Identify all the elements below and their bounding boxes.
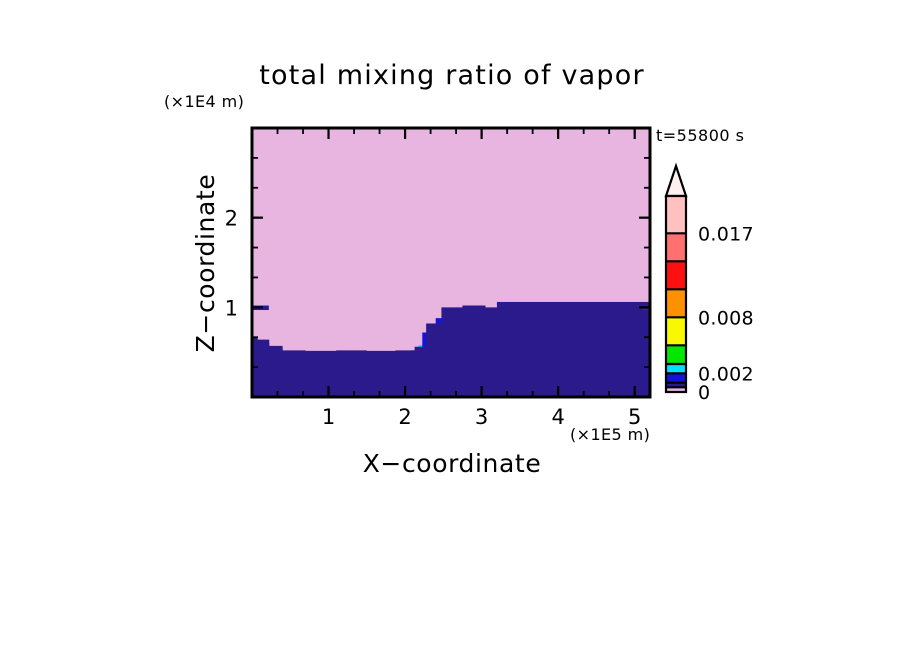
- colorbar-bands: [666, 196, 686, 392]
- x-tick-label: 2: [398, 405, 411, 429]
- x-tick-label: 3: [475, 405, 488, 429]
- colorbar-label: 0: [698, 382, 710, 404]
- y-tick-label: 2: [225, 207, 238, 231]
- feature-right-upper-anvil: [497, 302, 650, 309]
- colorbar-band-2: [666, 373, 686, 382]
- colorbar-label: 0.008: [698, 307, 754, 329]
- y-tick-label: 1: [225, 296, 238, 320]
- colorbar-label: 0.017: [698, 223, 754, 245]
- x-axis-unit-label: (×1E5 m): [570, 425, 650, 444]
- x-axis-title: X−coordinate: [363, 449, 542, 478]
- colorbar-band-7: [666, 261, 686, 289]
- colorbar-band-5: [666, 317, 686, 345]
- contour-plot-figure: total mixing ratio of vapor (×1E4 m) t=5…: [0, 0, 904, 654]
- plot-area: 12345 12: [225, 128, 650, 429]
- x-tick-label: 4: [551, 405, 564, 429]
- colorbar-band-3: [666, 364, 686, 373]
- y-axis-title: Z−coordinate: [191, 174, 220, 353]
- contour-field: [252, 128, 650, 397]
- colorbar-band-9: [666, 196, 686, 233]
- colorbar-band-8: [666, 233, 686, 261]
- x-tick-label: 1: [322, 405, 335, 429]
- time-annotation: t=55800 s: [656, 126, 745, 145]
- page-title: total mixing ratio of vapor: [259, 60, 645, 91]
- y-axis-unit-label: (×1E4 m): [164, 92, 244, 111]
- colorbar-band-4: [666, 345, 686, 364]
- colorbar-band-6: [666, 289, 686, 317]
